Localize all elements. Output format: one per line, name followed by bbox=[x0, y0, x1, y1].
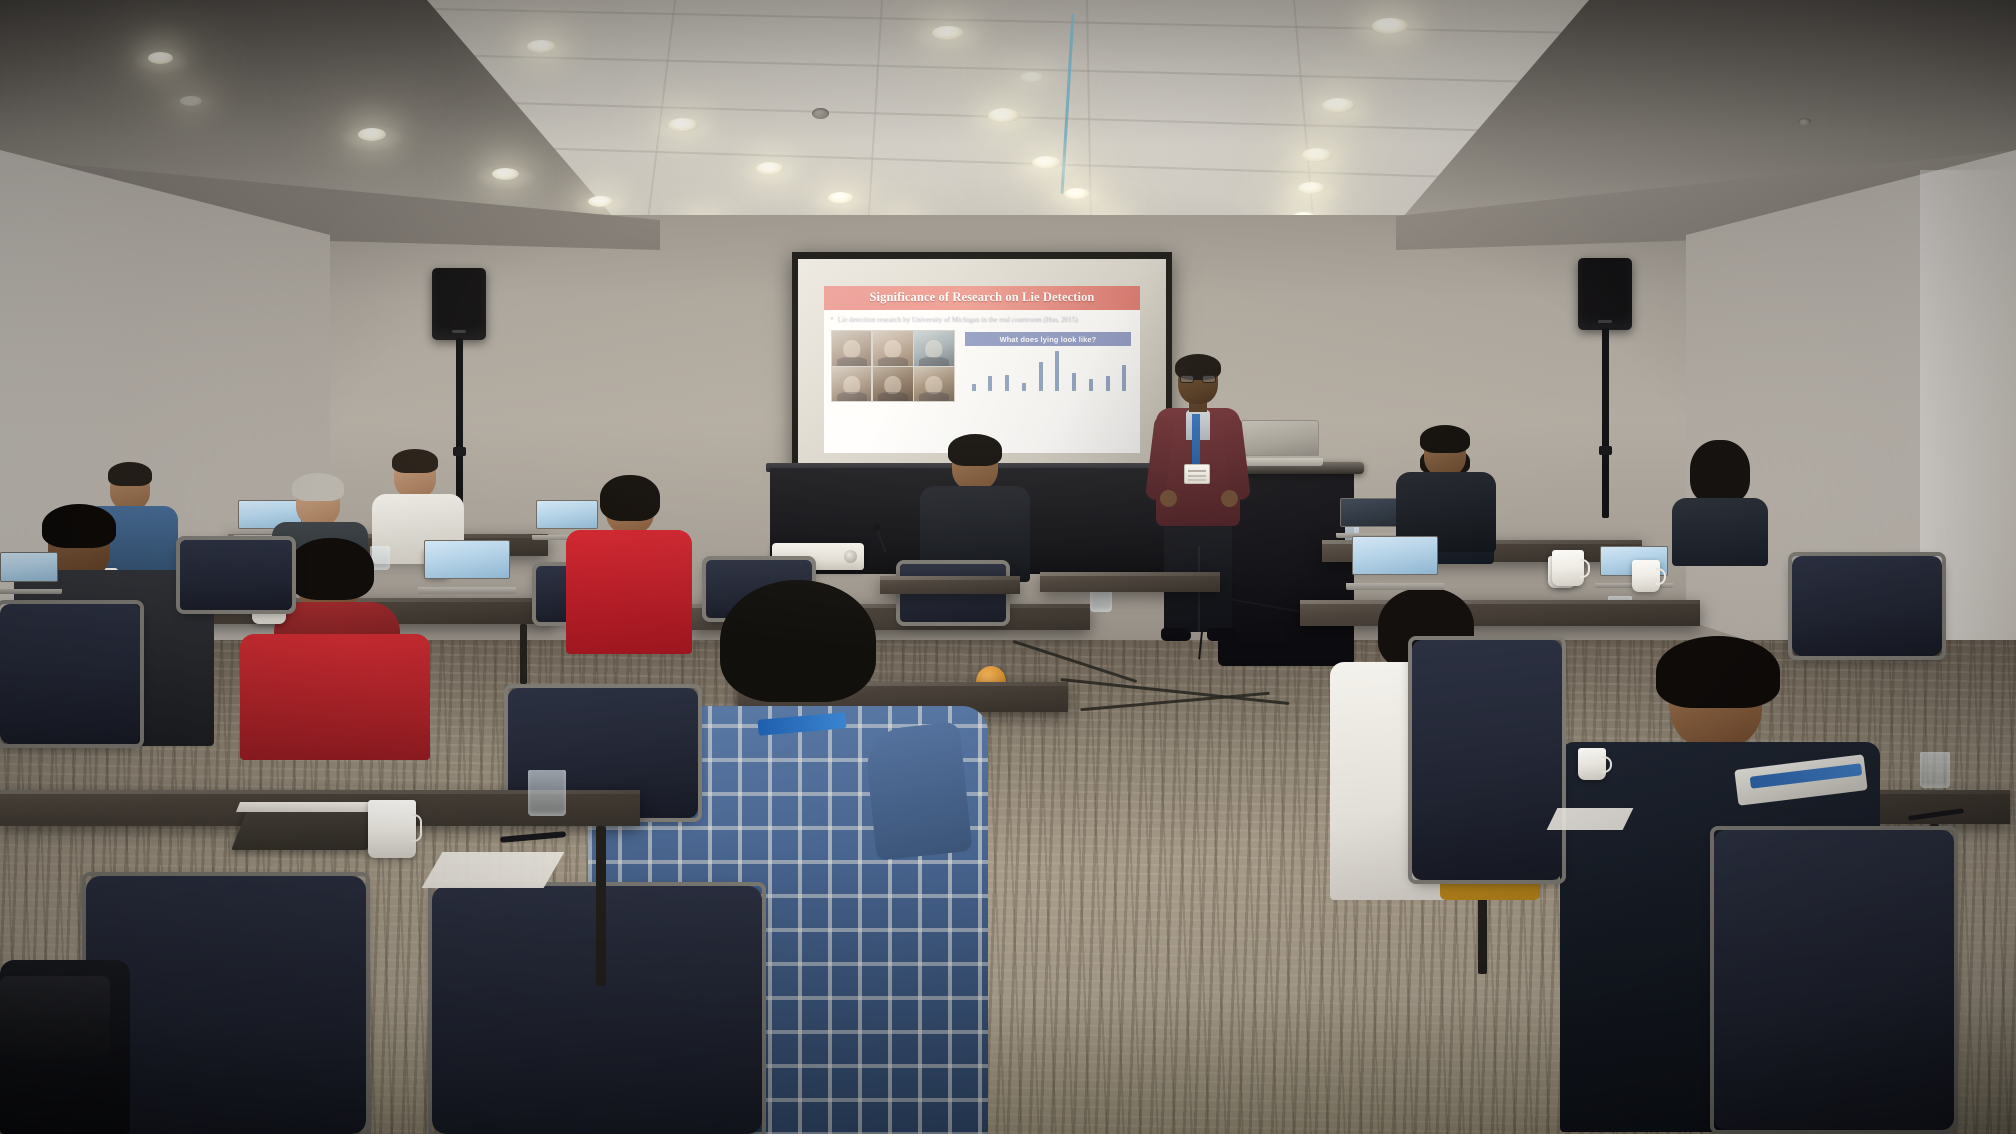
bar-7 bbox=[1072, 373, 1076, 391]
ceiling-light bbox=[492, 168, 519, 180]
laptop-screen bbox=[1340, 498, 1402, 527]
water-glass bbox=[1920, 752, 1950, 788]
attendee-hair bbox=[720, 580, 876, 702]
presenter bbox=[1148, 358, 1248, 648]
ceiling-light bbox=[358, 128, 386, 141]
attendee-suit-right bbox=[1396, 430, 1496, 550]
attendee-hair bbox=[1690, 440, 1750, 504]
ceiling-vent bbox=[812, 108, 829, 119]
attendee-torso bbox=[1672, 498, 1768, 566]
presenter-hand-left bbox=[1160, 490, 1177, 507]
slide-title: Significance of Research on Lie Detectio… bbox=[824, 286, 1140, 310]
ceiling-light bbox=[1020, 72, 1044, 83]
bar-9 bbox=[1106, 376, 1110, 391]
bar-2 bbox=[988, 376, 992, 391]
chart-caption: What does lying look like? bbox=[963, 332, 1133, 346]
ceiling-light bbox=[932, 26, 964, 40]
ceiling-light bbox=[148, 52, 173, 64]
attendee-laptop bbox=[1340, 498, 1402, 538]
laptop-base bbox=[0, 589, 62, 594]
slide-media-row: What does lying look like? bbox=[831, 330, 1133, 402]
laptop-screen bbox=[0, 552, 58, 582]
ceiling-light bbox=[756, 162, 784, 175]
laptop-base bbox=[1346, 583, 1444, 590]
conference-chair bbox=[1412, 640, 1562, 880]
face-grid bbox=[831, 330, 955, 402]
bar-4 bbox=[1022, 383, 1026, 391]
conference-chair bbox=[1792, 556, 1942, 656]
bar-5 bbox=[1039, 362, 1043, 392]
ceiling-light bbox=[1322, 98, 1355, 113]
face-thumbnail bbox=[832, 367, 872, 401]
coffee-mug bbox=[1552, 550, 1584, 586]
conference-room-photo: Significance of Research on Lie Detectio… bbox=[0, 0, 2016, 1134]
ceiling-light bbox=[1032, 156, 1061, 169]
ceiling-light bbox=[988, 108, 1019, 123]
attendee-arm bbox=[863, 721, 972, 860]
attendee-long-hair-right bbox=[1672, 446, 1768, 564]
coffee-mug bbox=[1632, 560, 1660, 592]
slide-chart: What does lying look like? bbox=[963, 330, 1133, 391]
ceiling-light bbox=[180, 96, 202, 106]
presenter-hand-right bbox=[1221, 490, 1238, 507]
bar-1 bbox=[972, 384, 976, 391]
attendee-hair bbox=[108, 462, 152, 486]
ceiling-light bbox=[668, 118, 698, 132]
ceiling-light bbox=[527, 40, 556, 53]
slide-body: Lie detection research by University of … bbox=[824, 310, 1140, 453]
attendee-table bbox=[1040, 572, 1220, 592]
speaker-stand-right bbox=[1602, 328, 1609, 518]
attendee-hair bbox=[42, 504, 116, 548]
chair-frame bbox=[1408, 636, 1566, 884]
conference-chair bbox=[1714, 830, 1954, 1130]
bar-chart-bars bbox=[963, 351, 1133, 391]
attendee-torso bbox=[240, 634, 430, 760]
glasses-icon bbox=[1180, 375, 1216, 383]
bar-3 bbox=[1005, 375, 1009, 392]
ceiling-light bbox=[1372, 18, 1408, 34]
pa-speaker-right bbox=[1578, 258, 1632, 330]
pa-speaker-left bbox=[432, 268, 486, 340]
attendee-laptop bbox=[1352, 536, 1438, 590]
chair-frame bbox=[1710, 826, 1958, 1134]
bar-8 bbox=[1089, 379, 1093, 391]
attendee-hair bbox=[948, 434, 1002, 466]
ceiling-light bbox=[1302, 148, 1332, 162]
presenter-lanyard bbox=[1192, 414, 1200, 466]
face-thumbnail bbox=[873, 331, 913, 365]
face-thumbnail bbox=[873, 367, 913, 401]
ceiling-light bbox=[588, 196, 613, 207]
attendee-suit-center bbox=[920, 440, 1030, 580]
notepad bbox=[231, 806, 385, 850]
paper-sheet bbox=[422, 852, 565, 888]
paper-sheet bbox=[1547, 808, 1634, 830]
ceiling-light bbox=[828, 192, 854, 204]
table-leg bbox=[520, 624, 527, 684]
bar-6 bbox=[1055, 351, 1059, 391]
conference-chair bbox=[0, 604, 140, 744]
face-thumbnail bbox=[914, 331, 954, 365]
laptop-screen bbox=[1241, 420, 1319, 456]
chair-frame bbox=[176, 536, 296, 614]
chair-frame bbox=[1788, 552, 1946, 660]
coffee-mug bbox=[1578, 748, 1606, 780]
laptop-screen bbox=[424, 540, 510, 579]
slide-bullet-text: Lie detection research by University of … bbox=[831, 315, 1133, 325]
conference-chair bbox=[180, 540, 292, 610]
podium-laptop bbox=[1237, 420, 1323, 466]
presentation-slide: Significance of Research on Lie Detectio… bbox=[824, 286, 1140, 453]
attendee-hair bbox=[600, 475, 660, 521]
presenter-shoe-right bbox=[1207, 628, 1237, 641]
face-thumbnail bbox=[914, 367, 954, 401]
presenter-shoe-left bbox=[1161, 628, 1191, 641]
ceiling-vent bbox=[1798, 118, 1811, 126]
projector-lens bbox=[844, 550, 857, 563]
laptop-base bbox=[1237, 458, 1323, 466]
table-leg bbox=[596, 826, 606, 986]
attendee-hair bbox=[1656, 636, 1780, 708]
attendee-hair bbox=[292, 473, 344, 501]
face-thumbnail bbox=[832, 331, 872, 365]
water-glass bbox=[528, 770, 566, 816]
attendee-hair bbox=[1420, 425, 1470, 453]
attendee-laptop bbox=[0, 552, 58, 594]
attendee-hair bbox=[392, 449, 438, 473]
attendee-table bbox=[880, 576, 1020, 594]
ceiling-light bbox=[1298, 182, 1325, 194]
laptop-base bbox=[418, 587, 516, 594]
ceiling-light bbox=[1064, 188, 1090, 200]
laptop-screen bbox=[1352, 536, 1438, 575]
notepad-pages bbox=[236, 802, 372, 812]
chair-frame bbox=[0, 600, 144, 748]
attendee-laptop bbox=[424, 540, 510, 594]
coffee-mug bbox=[368, 800, 416, 858]
bar-10 bbox=[1122, 365, 1126, 391]
presenter-name-badge bbox=[1184, 464, 1210, 484]
floor-bag bbox=[0, 976, 110, 1058]
attendee-hair bbox=[288, 538, 374, 600]
